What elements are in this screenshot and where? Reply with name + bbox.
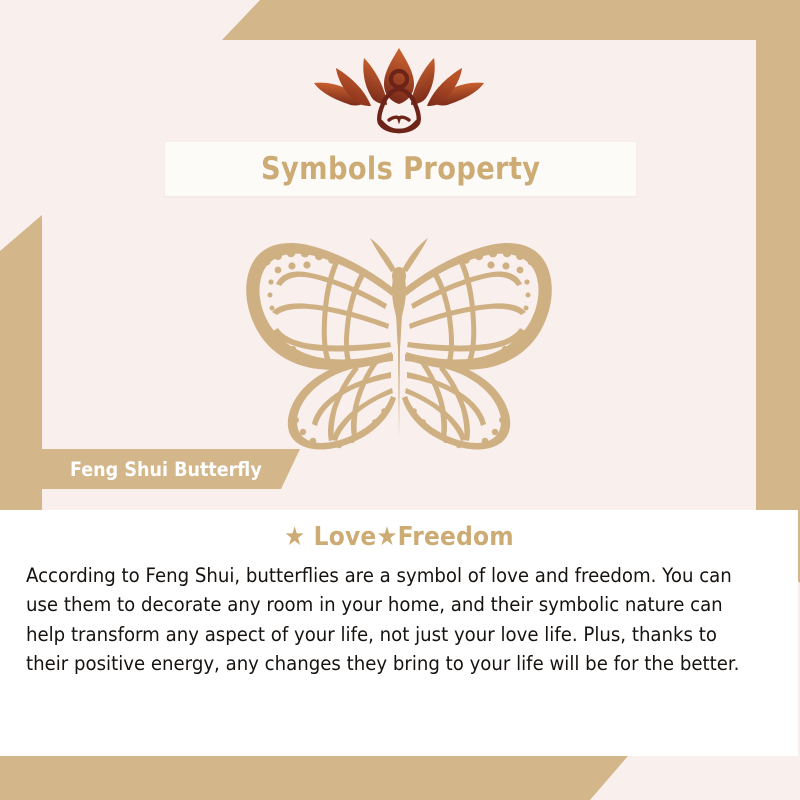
frame-band-top (222, 0, 800, 40)
feng-shui-butterfly-label: Feng Shui Butterfly (70, 458, 262, 481)
title-banner: Symbols Property (165, 142, 636, 196)
frame-band-right (756, 40, 800, 583)
description-panel: ★ Love★Freedom According to Feng Shui, b… (0, 510, 798, 756)
page-title: Symbols Property (261, 151, 540, 187)
butterfly-icon (215, 232, 583, 456)
description-paragraph: According to Feng Shui, butterflies are … (26, 561, 744, 679)
feng-shui-butterfly-tab: Feng Shui Butterfly (0, 449, 300, 489)
frame-band-bottom (0, 756, 628, 800)
love-freedom-headline: ★ Love★Freedom (40, 522, 758, 552)
hero-illustration (42, 232, 756, 456)
lotus-meditation-icon (304, 46, 494, 138)
product-infographic: BUDDHA STONES Symbols Property (0, 0, 800, 800)
page-inner: BUDDHA STONES Symbols Property (42, 40, 756, 756)
